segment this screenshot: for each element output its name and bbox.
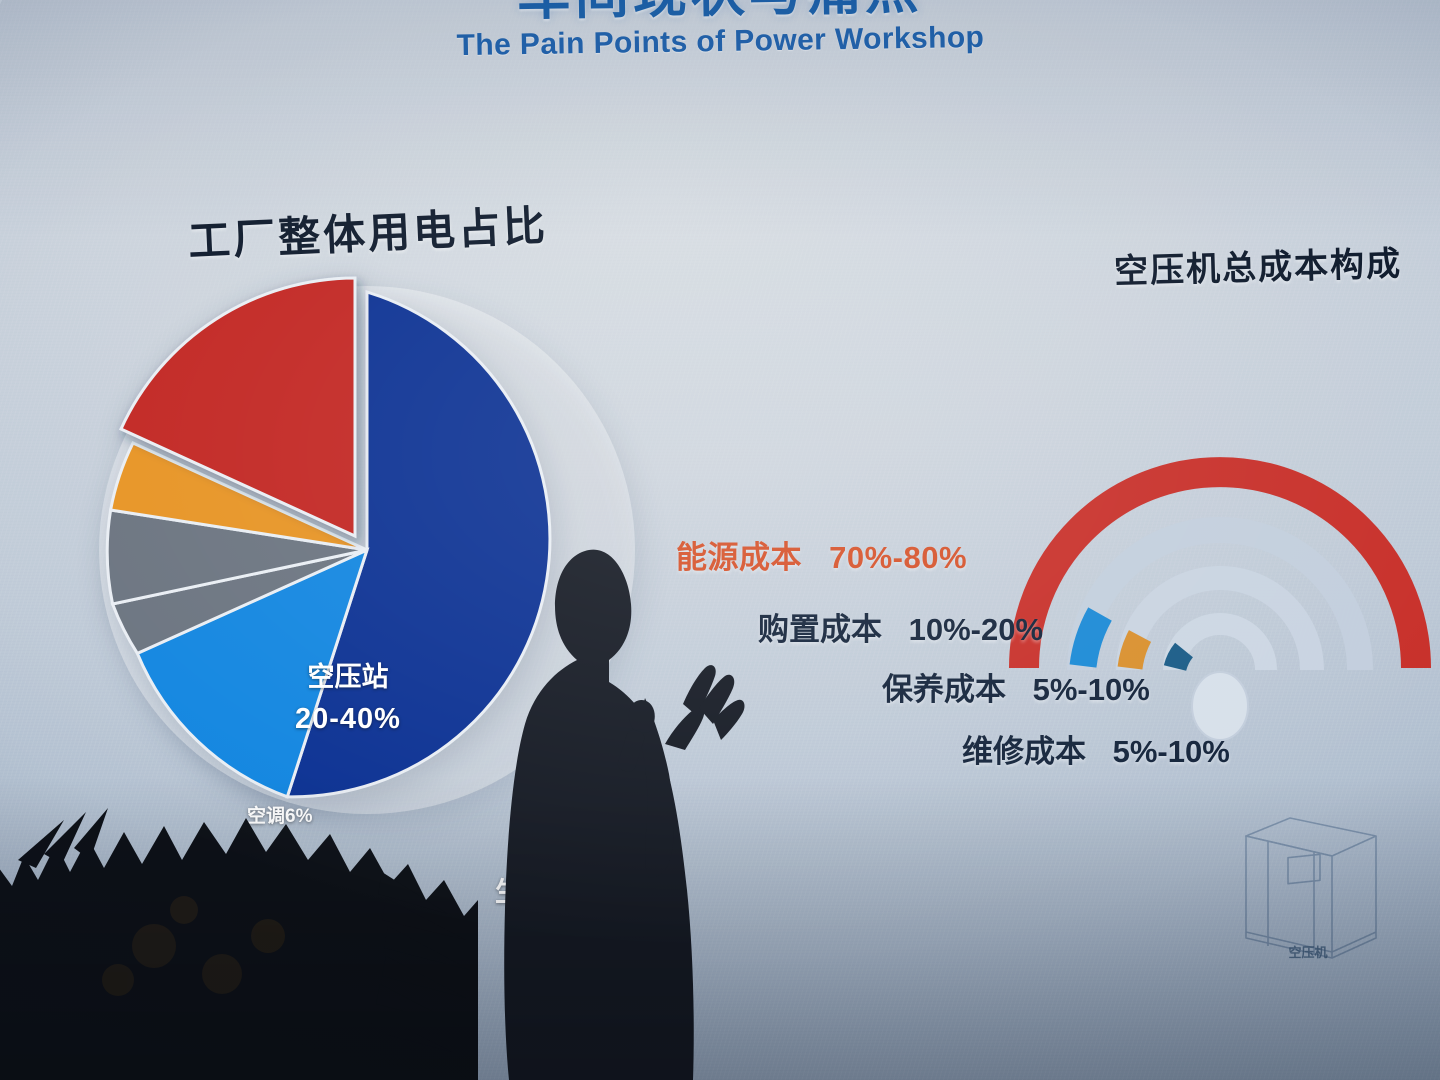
- right-section-heading: 空压机总成本构成: [1113, 236, 1402, 293]
- pie-label-compressor-station: 空压站 20-40%: [295, 661, 401, 737]
- presentation-photo: 车间现状与痛点 The Pain Points of Power Worksho…: [0, 0, 1440, 1080]
- cost-value-repair: 5%-10%: [1113, 734, 1230, 769]
- cost-label-purchase: 购置成本: [758, 612, 882, 647]
- pie-label-production: 生产设备 55%: [495, 876, 603, 953]
- cost-value-purchase: 10%-20%: [909, 612, 1043, 647]
- cost-composition-arc-chart: [988, 318, 1440, 788]
- cost-value-energy: 70%-80%: [829, 540, 967, 575]
- arc-repair-cost: [1175, 650, 1184, 668]
- pie-label-compressor-value: 20-40%: [295, 702, 401, 737]
- cost-item-purchase: 购置成本 10%-20%: [758, 604, 1043, 649]
- pie-label-lighting: 照明7%: [235, 896, 300, 919]
- cost-item-maintenance: 保养成本 5%-10%: [882, 664, 1150, 709]
- cost-label-repair: 维修成本: [962, 734, 1086, 769]
- pie-label-production-name: 生产设备: [495, 877, 603, 907]
- cost-label-energy: 能源成本: [676, 540, 802, 575]
- cost-item-repair: 维修成本 5%-10%: [962, 726, 1230, 771]
- pie-label-other: 其他17%: [323, 990, 403, 1014]
- pie-label-compressor-name: 空压站: [307, 662, 388, 692]
- arc-purchase-cost: [1083, 614, 1100, 666]
- pie-label-hvac: 空调6%: [247, 805, 312, 828]
- cost-label-maintenance: 保养成本: [882, 672, 1006, 707]
- cost-item-energy: 能源成本 70%-80%: [676, 532, 967, 577]
- cost-value-maintenance: 5%-10%: [1033, 672, 1150, 707]
- electricity-usage-pie-chart: 空压站 20-40% 生产设备 55% 空调6% 照明7% 其他17%: [95, 278, 635, 838]
- air-compressor-caption: 空压机: [1248, 942, 1368, 961]
- pie-label-production-value: 55%: [495, 918, 603, 953]
